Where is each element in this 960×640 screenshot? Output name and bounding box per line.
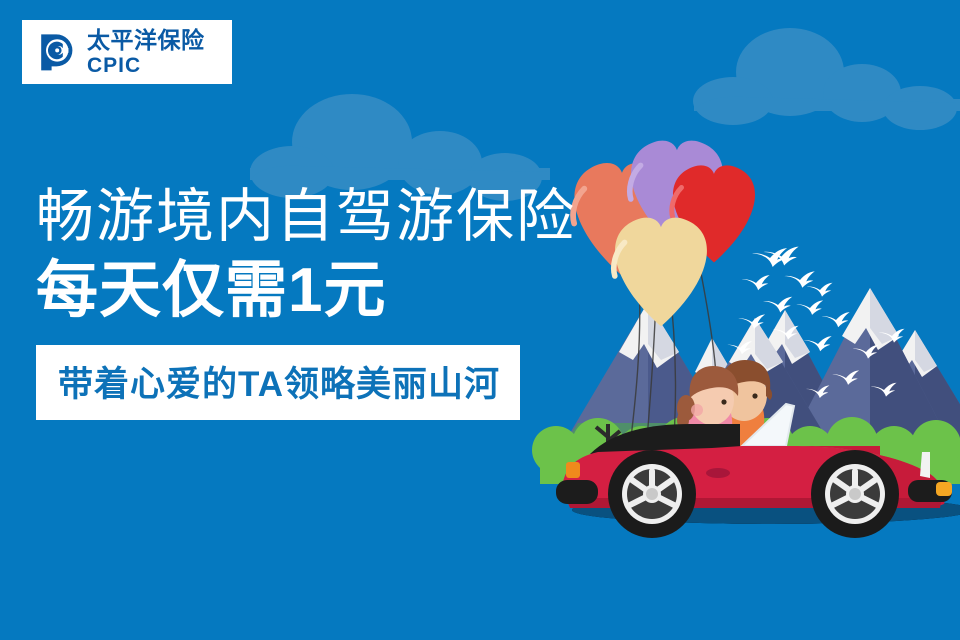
front-wheel	[811, 450, 899, 538]
cpic-logo-text: 太平洋保险 CPIC	[87, 29, 205, 76]
cpic-p-monogram-icon	[38, 32, 78, 72]
subline-badge: 带着心爱的TA领略美丽山河	[36, 345, 520, 420]
cpic-company-name-cn: 太平洋保险	[87, 29, 205, 52]
headline-primary: 畅游境内自驾游保险	[36, 186, 636, 249]
cpic-company-name-en: CPIC	[87, 55, 205, 76]
promo-copy-block: 畅游境内自驾游保险 每天仅需1元 带着心爱的TA领略美丽山河	[36, 186, 636, 420]
cpic-logo: 太平洋保险 CPIC	[22, 20, 232, 84]
insurance-promo-banner: 太平洋保险 CPIC 畅游境内自驾游保险 每天仅需1元 带着心爱的TA领略美丽山…	[0, 0, 960, 640]
headline-price: 每天仅需1元	[36, 257, 636, 325]
rear-wheel	[608, 450, 696, 538]
